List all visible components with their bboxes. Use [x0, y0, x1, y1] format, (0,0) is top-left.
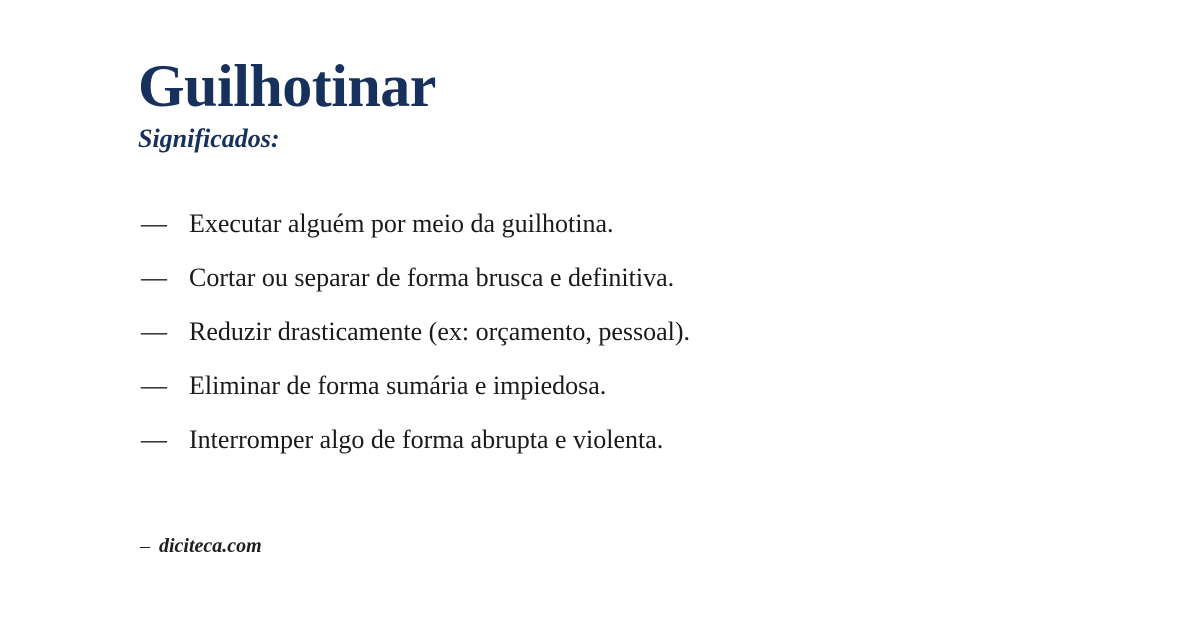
- em-dash-marker-icon: —: [141, 315, 189, 349]
- list-item: — Interromper algo de forma abrupta e vi…: [141, 423, 690, 477]
- source-attribution: – diciteca.com: [140, 533, 262, 559]
- meaning-text: Cortar ou separar de forma brusca e defi…: [189, 261, 674, 295]
- dictionary-entry-card: Guilhotinar Significados: — Executar alg…: [0, 0, 1200, 628]
- page-title: Guilhotinar: [138, 52, 436, 120]
- list-item: — Eliminar de forma sumária e impiedosa.: [141, 369, 690, 423]
- list-item: — Executar alguém por meio da guilhotina…: [141, 207, 690, 261]
- entry-header: Guilhotinar Significados:: [138, 52, 436, 154]
- meaning-text: Reduzir drasticamente (ex: orçamento, pe…: [189, 315, 690, 349]
- meaning-text: Eliminar de forma sumária e impiedosa.: [189, 369, 606, 403]
- en-dash-marker-icon: –: [140, 533, 150, 559]
- em-dash-marker-icon: —: [141, 207, 189, 241]
- meanings-list: — Executar alguém por meio da guilhotina…: [141, 207, 690, 477]
- meaning-text: Executar alguém por meio da guilhotina.: [189, 207, 614, 241]
- em-dash-marker-icon: —: [141, 423, 189, 457]
- list-item: — Reduzir drasticamente (ex: orçamento, …: [141, 315, 690, 369]
- source-name: diciteca.com: [159, 533, 262, 559]
- list-item: — Cortar ou separar de forma brusca e de…: [141, 261, 690, 315]
- entry-subtitle: Significados:: [138, 124, 436, 154]
- meaning-text: Interromper algo de forma abrupta e viol…: [189, 423, 663, 457]
- em-dash-marker-icon: —: [141, 261, 189, 295]
- em-dash-marker-icon: —: [141, 369, 189, 403]
